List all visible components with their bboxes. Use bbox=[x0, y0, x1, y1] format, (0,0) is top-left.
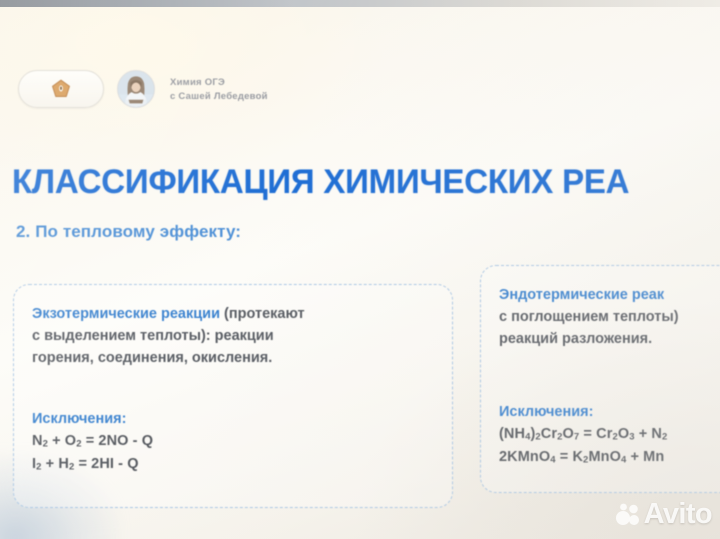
term-exothermic: Экзотермические реакции bbox=[32, 306, 220, 322]
avito-dots-icon bbox=[615, 502, 641, 528]
avito-watermark: Avito bbox=[615, 500, 712, 529]
formula-endothermic-1: (NH4)2Cr2O7 = Cr2O3 + N2 bbox=[499, 423, 667, 446]
card-endothermic: Эндотермические реак с поглощением тепло… bbox=[480, 265, 720, 493]
card-exothermic-body: Экзотермические реакции (протекают с выд… bbox=[32, 303, 436, 369]
exceptions-endothermic: Исключения: (NH4)2Cr2O7 = Cr2O3 + N2 2KM… bbox=[499, 404, 667, 469]
card-endothermic-line-3: реакций разложения. bbox=[499, 328, 720, 350]
card-exothermic-line-2: с выделением теплоты): реакции bbox=[32, 325, 436, 347]
formula-exothermic-1: N2 + O2 = 2NO - Q bbox=[32, 430, 153, 453]
card-exothermic-line-3: горения, соединения, окисления. bbox=[32, 347, 436, 369]
card-endothermic-body: Эндотермические реак с поглощением тепло… bbox=[499, 284, 720, 350]
term-exothermic-rest: (протекают bbox=[220, 306, 305, 322]
avito-label: Avito bbox=[644, 500, 712, 529]
brand-header: Химия ОГЭ с Сашей Лебедевой bbox=[18, 70, 268, 108]
section-subtitle: 2. По тепловому эффекту: bbox=[16, 222, 241, 242]
exceptions-exothermic-title: Исключения: bbox=[32, 411, 153, 427]
logo-badge bbox=[18, 70, 104, 108]
card-exothermic-line-1: Экзотермические реакции (протекают bbox=[32, 303, 436, 325]
exceptions-exothermic: Исключения: N2 + O2 = 2NO - Q I2 + H2 = … bbox=[32, 411, 153, 476]
page-title: КЛАССИФИКАЦИЯ ХИМИЧЕСКИХ РЕА bbox=[12, 163, 629, 202]
card-endothermic-line-2: с поглощением теплоты) bbox=[499, 306, 720, 328]
shield-emblem-icon bbox=[50, 78, 72, 100]
avatar bbox=[117, 70, 155, 108]
user-avatar-photo bbox=[118, 71, 154, 107]
brand-line-2: с Сашей Лебедевой bbox=[170, 91, 268, 102]
formula-exothermic-2: I2 + H2 = 2HI - Q bbox=[32, 453, 153, 476]
photographed-slide: Химия ОГЭ с Сашей Лебедевой КЛАССИФИКАЦИ… bbox=[0, 0, 720, 539]
brand-text: Химия ОГЭ с Сашей Лебедевой bbox=[170, 77, 268, 102]
card-exothermic: Экзотермические реакции (протекают с выд… bbox=[13, 284, 453, 508]
term-endothermic: Эндотермические реак bbox=[499, 287, 664, 303]
formula-endothermic-2: 2KMnO4 = K2MnO4 + Mn bbox=[499, 446, 667, 469]
brand-line-1: Химия ОГЭ bbox=[170, 77, 268, 88]
card-endothermic-line-1: Эндотермические реак bbox=[499, 284, 720, 306]
exceptions-endothermic-title: Исключения: bbox=[499, 404, 667, 420]
